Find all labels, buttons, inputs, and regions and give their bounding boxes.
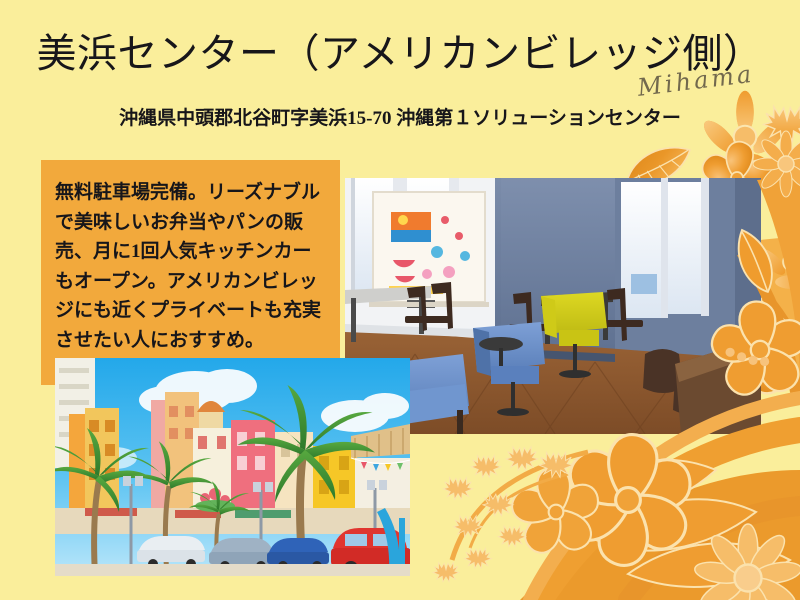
photo-american-village-street xyxy=(55,358,410,576)
description-text: 無料駐車場完備。リーズナブルで美味しいお弁当やパンの販売、月に1回人気キッチンカ… xyxy=(55,178,324,355)
slide-canvas: 美浜センター（アメリカンビレッジ側） Mihama 沖縄県中頭郡北谷町字美浜15… xyxy=(0,0,800,600)
description-box: 無料駐車場完備。リーズナブルで美味しいお弁当やパンの販売、月に1回人気キッチンカ… xyxy=(41,160,340,385)
photo-street-artwork xyxy=(55,358,410,576)
address-line: 沖縄県中頭郡北谷町字美浜15-70 沖縄第１ソリューションセンター xyxy=(0,104,800,134)
